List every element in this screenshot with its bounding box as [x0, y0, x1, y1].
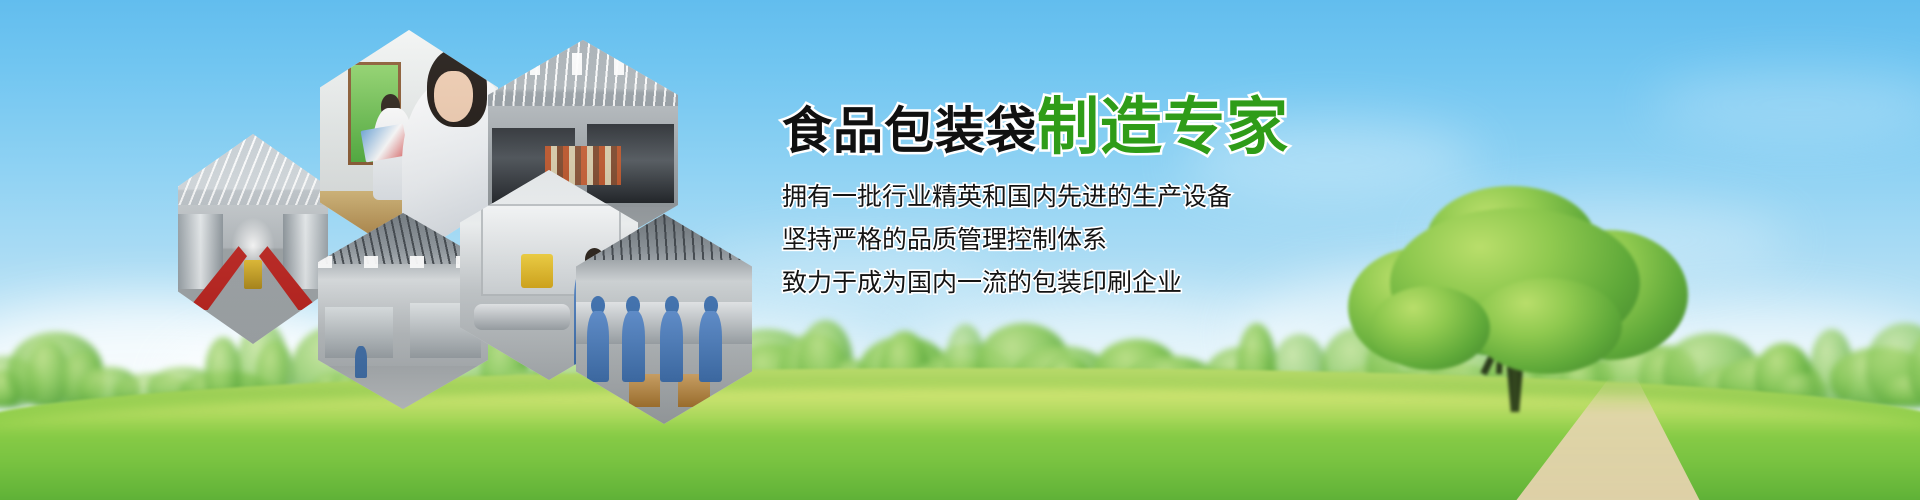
marketing-copy: 食品包装袋制造专家 拥有一批行业精英和国内先进的生产设备 坚持严格的品质管理控制…	[782, 96, 1422, 295]
tree-foliage	[1472, 278, 1622, 374]
tree-foliage	[1370, 286, 1490, 370]
promo-banner: 食品包装袋制造专家 拥有一批行业精英和国内先进的生产设备 坚持严格的品质管理控制…	[0, 0, 1920, 500]
subline-list: 拥有一批行业精英和国内先进的生产设备 坚持严格的品质管理控制体系 致力于成为国内…	[782, 184, 1422, 295]
subline-1: 拥有一批行业精英和国内先进的生产设备	[782, 184, 1422, 209]
cloud-shape	[1650, 70, 1920, 140]
headline: 食品包装袋制造专家	[782, 96, 1422, 158]
headline-primary: 食品包装袋	[782, 102, 1037, 160]
subline-2: 坚持严格的品质管理控制体系	[782, 227, 1422, 252]
collage-hex-warehouse-aisle-red-carpet	[178, 134, 328, 344]
subline-3: 致力于成为国内一流的包装印刷企业	[782, 270, 1422, 295]
headline-accent: 制造专家	[1037, 90, 1289, 163]
photo-warehouse-aisle	[178, 134, 328, 344]
hexagon-photo-collage	[170, 18, 780, 363]
